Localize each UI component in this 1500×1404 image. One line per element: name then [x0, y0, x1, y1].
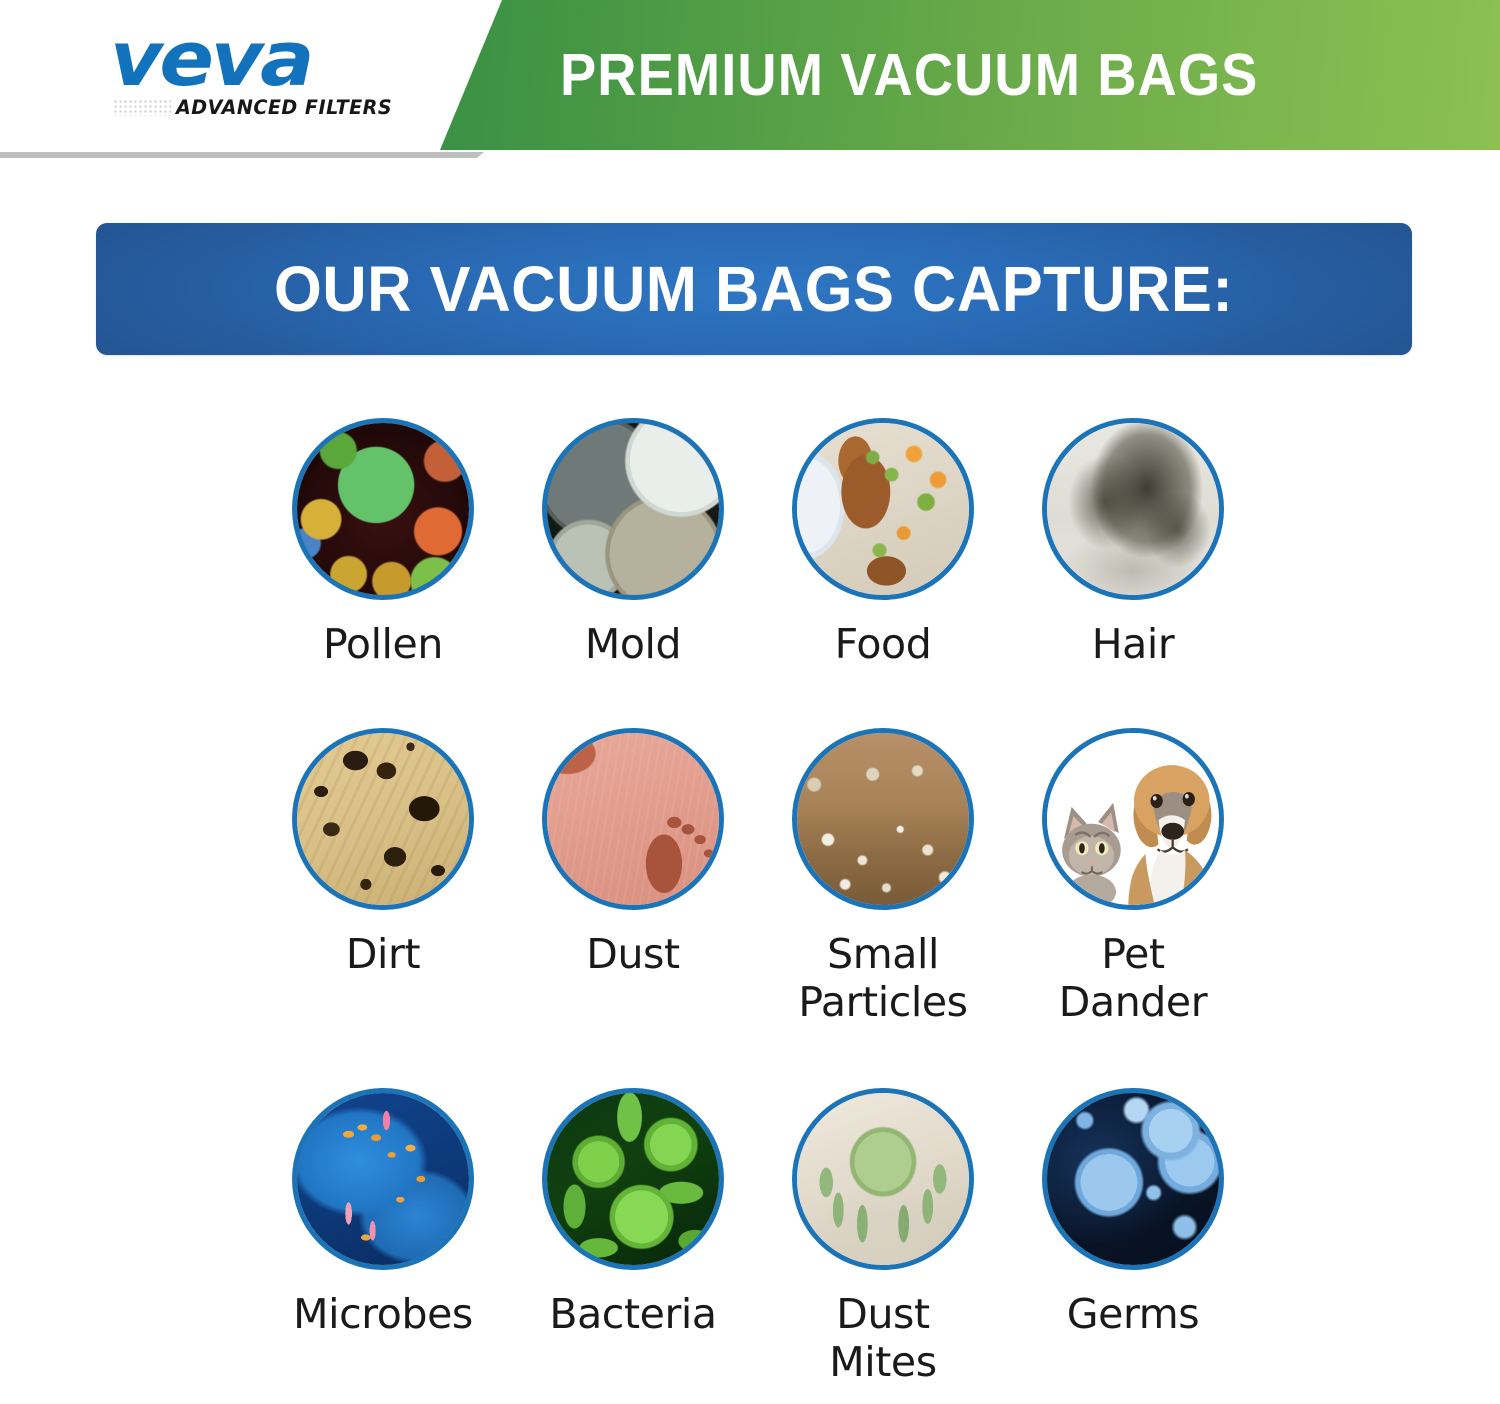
small-particles-icon [797, 733, 969, 905]
item-image-circle [292, 1088, 474, 1270]
cat-and-dog-icon [1047, 733, 1219, 905]
dot-grid-icon [113, 99, 171, 116]
item-label: Pet Dander [1059, 930, 1207, 1027]
logo-wordmark: veva [110, 24, 439, 94]
item-image-circle [542, 1088, 724, 1270]
capture-item-hair: Hair [1008, 418, 1258, 728]
item-label: Food [835, 620, 932, 668]
capture-item-pet-dander: Pet Dander [1008, 728, 1258, 1088]
bacteria-icon [547, 1093, 719, 1265]
capture-item-dust-mites: Dust Mites [758, 1088, 1008, 1404]
header-banner-title: PREMIUM VACUUM BAGS [560, 0, 1388, 150]
dusty-footprint-icon [547, 733, 719, 905]
capture-item-food: Food [758, 418, 1008, 728]
header-divider-line [0, 152, 470, 158]
item-label: Dust Mites [829, 1290, 936, 1387]
capture-item-pollen: Pollen [258, 418, 508, 728]
item-image-circle [292, 418, 474, 600]
item-label: Dirt [346, 930, 420, 978]
logo-tagline-row: ADVANCED FILTERS [113, 96, 420, 119]
item-label: Small Particles [798, 930, 967, 1027]
item-image-circle [792, 1088, 974, 1270]
infographic-page: PREMIUM VACUUM BAGS veva ADVANCED FILTER… [0, 0, 1500, 1404]
item-label: Germs [1067, 1290, 1199, 1338]
capture-items-grid: Pollen Mold Food Hair [0, 418, 1500, 1404]
item-image-circle [1042, 728, 1224, 910]
capture-items-row-3: Microbes Bacteria Dust Mites Germs [0, 1088, 1500, 1404]
logo-tagline: ADVANCED FILTERS [176, 96, 392, 119]
item-image-circle [792, 728, 974, 910]
item-image-circle [1042, 418, 1224, 600]
capture-item-small-particles: Small Particles [758, 728, 1008, 1088]
item-label: Bacteria [549, 1290, 716, 1338]
page-header: PREMIUM VACUUM BAGS veva ADVANCED FILTER… [0, 0, 1500, 160]
item-label: Pollen [323, 620, 443, 668]
capture-heading-text: OUR VACUUM BAGS CAPTURE: [274, 252, 1233, 326]
capture-item-microbes: Microbes [258, 1088, 508, 1404]
item-image-circle [792, 418, 974, 600]
capture-item-germs: Germs [1008, 1088, 1258, 1404]
capture-item-dirt: Dirt [258, 728, 508, 1088]
item-label: Dust [586, 930, 679, 978]
capture-items-row-1: Pollen Mold Food Hair [0, 418, 1500, 728]
microbes-icon [297, 1093, 469, 1265]
spilled-food-icon [797, 423, 969, 595]
capture-item-mold: Mold [508, 418, 758, 728]
capture-heading-bar: OUR VACUUM BAGS CAPTURE: [96, 223, 1412, 355]
capture-item-bacteria: Bacteria [508, 1088, 758, 1404]
item-label: Hair [1092, 620, 1175, 668]
item-label: Mold [585, 620, 681, 668]
soil-clumps-icon [297, 733, 469, 905]
item-image-circle [1042, 1088, 1224, 1270]
capture-items-row-2: Dirt Dust Small Particles [0, 728, 1500, 1088]
virus-particles-icon [1047, 1093, 1219, 1265]
item-label: Microbes [293, 1290, 473, 1338]
item-image-circle [292, 728, 474, 910]
dust-mite-icon [797, 1093, 969, 1265]
mold-colonies-icon [547, 423, 719, 595]
pollen-grains-icon [297, 423, 469, 595]
capture-item-dust: Dust [508, 728, 758, 1088]
brand-logo: veva ADVANCED FILTERS [110, 24, 420, 124]
hair-clump-icon [1047, 423, 1219, 595]
item-image-circle [542, 418, 724, 600]
item-image-circle [542, 728, 724, 910]
